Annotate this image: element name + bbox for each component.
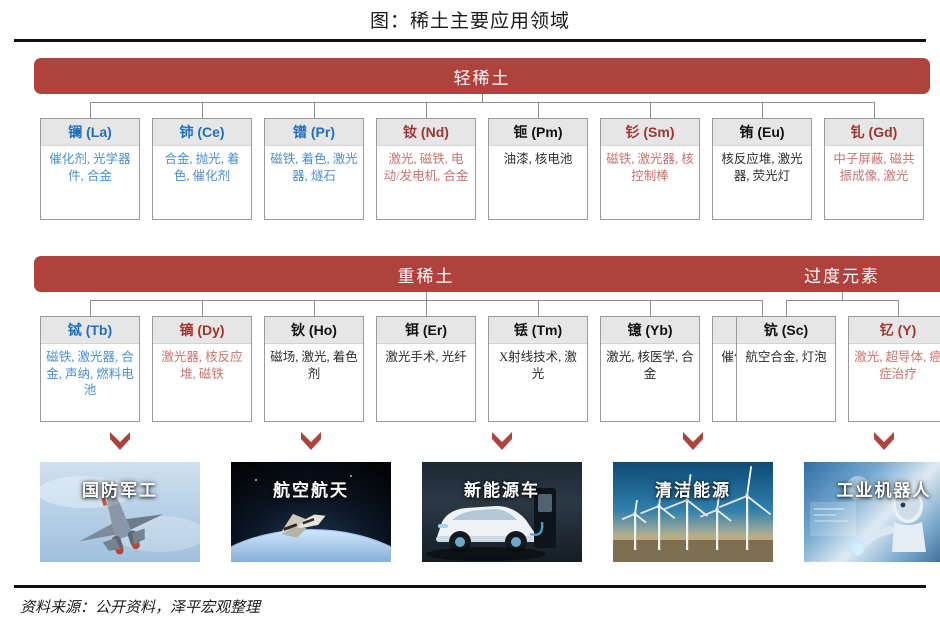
- heavy-drop-3: [426, 300, 427, 316]
- heavy-drop-0: [90, 300, 91, 316]
- light-drop-6: [762, 102, 763, 118]
- application-tile-robot[interactable]: 工业机器人: [804, 462, 940, 562]
- element-card-Eu[interactable]: 铕 (Eu)核反应堆, 激光器, 荧光灯: [712, 118, 812, 220]
- element-card-Yb[interactable]: 镱 (Yb)激光, 核医学, 合金: [600, 316, 700, 422]
- element-card-Pm[interactable]: 钷 (Pm)油漆, 核电池: [488, 118, 588, 220]
- divider-bottom: [14, 585, 926, 588]
- element-symbol: 镱 (Yb): [601, 317, 699, 344]
- element-card-Dy[interactable]: 镝 (Dy)激光器, 核反应堆, 磁铁: [152, 316, 252, 422]
- source-note: 资料来源：公开资料，泽平宏观整理: [20, 596, 260, 617]
- light-drop-5: [650, 102, 651, 118]
- chevron-down-icon: [681, 431, 705, 451]
- heavy-drop-5: [650, 300, 651, 316]
- element-uses: 磁铁, 着色, 激光器, 燧石: [265, 146, 363, 186]
- light-drop-3: [426, 102, 427, 118]
- chevron-down-icon: [490, 431, 514, 451]
- element-symbol: 铽 (Tb): [41, 317, 139, 344]
- element-symbol: 钪 (Sc): [737, 317, 835, 344]
- application-label: 航空航天: [231, 476, 391, 501]
- heavy-drop-4: [538, 300, 539, 316]
- application-tile-aerospace[interactable]: 航空航天: [231, 462, 391, 562]
- element-card-Sm[interactable]: 钐 (Sm)磁铁, 激光器, 核控制棒: [600, 118, 700, 220]
- element-uses: 磁场, 激光, 着色剂: [265, 344, 363, 384]
- light-bus: [90, 102, 874, 103]
- element-uses: 磁铁, 激光器, 核控制棒: [601, 146, 699, 186]
- element-symbol: 钆 (Gd): [825, 119, 923, 146]
- element-uses: 激光手术, 光纤: [377, 344, 475, 368]
- application-label: 国防军工: [40, 476, 200, 501]
- element-card-Er[interactable]: 铒 (Er)激光手术, 光纤: [376, 316, 476, 422]
- element-symbol: 钐 (Sm): [601, 119, 699, 146]
- element-uses: X射线技术, 激光: [489, 344, 587, 384]
- element-symbol: 钇 (Y): [849, 317, 940, 344]
- chevron-down-icon: [108, 431, 132, 451]
- group-bar-heavy-rare-earth: 重稀土: [34, 256, 818, 292]
- group-bar-transition-elements: 过度元素: [730, 256, 940, 292]
- heavy-drop-1: [202, 300, 203, 316]
- heavy-drop-2: [314, 300, 315, 316]
- group-bar-label: 轻稀土: [454, 64, 511, 89]
- element-symbol: 铕 (Eu): [713, 119, 811, 146]
- heavy-trunk: [426, 292, 427, 300]
- application-label: 清洁能源: [613, 476, 773, 501]
- element-card-Y[interactable]: 钇 (Y)激光, 超导体, 癌症治疗: [848, 316, 940, 422]
- trans-trunk: [842, 292, 843, 300]
- element-card-Tm[interactable]: 铥 (Tm)X射线技术, 激光: [488, 316, 588, 422]
- element-card-Nd[interactable]: 钕 (Nd)激光, 磁铁, 电动/发电机, 合金: [376, 118, 476, 220]
- element-card-Gd[interactable]: 钆 (Gd)中子屏蔽, 磁共振成像, 激光: [824, 118, 924, 220]
- application-tile-clean[interactable]: 清洁能源: [613, 462, 773, 562]
- light-drop-4: [538, 102, 539, 118]
- element-uses: 激光, 超导体, 癌症治疗: [849, 344, 940, 384]
- chevron-down-icon: [872, 431, 896, 451]
- element-symbol: 镧 (La): [41, 119, 139, 146]
- element-symbol: 铥 (Tm): [489, 317, 587, 344]
- light-drop-7: [874, 102, 875, 118]
- application-label: 工业机器人: [804, 476, 940, 501]
- element-card-La[interactable]: 镧 (La)催化剂, 光学器件, 合金: [40, 118, 140, 220]
- element-uses: 催化剂, 光学器件, 合金: [41, 146, 139, 186]
- light-drop-0: [90, 102, 91, 118]
- figure-root: 图：稀土主要应用领域 轻稀土镧 (La)催化剂, 光学器件, 合金铈 (Ce)合…: [0, 0, 940, 628]
- group-bar-label: 过度元素: [804, 262, 880, 287]
- element-uses: 核反应堆, 激光器, 荧光灯: [713, 146, 811, 186]
- element-uses: 合金, 抛光, 着色, 催化剂: [153, 146, 251, 186]
- element-symbol: 铒 (Er): [377, 317, 475, 344]
- application-tile-defense[interactable]: 国防军工: [40, 462, 200, 562]
- element-symbol: 铈 (Ce): [153, 119, 251, 146]
- group-bar-label: 重稀土: [398, 262, 455, 287]
- element-symbol: 镝 (Dy): [153, 317, 251, 344]
- element-uses: 中子屏蔽, 磁共振成像, 激光: [825, 146, 923, 186]
- trans-bus: [786, 300, 898, 301]
- element-card-Sc[interactable]: 钪 (Sc)航空合金, 灯泡: [736, 316, 836, 422]
- element-uses: 激光器, 核反应堆, 磁铁: [153, 344, 251, 384]
- element-uses: 油漆, 核电池: [489, 146, 587, 170]
- element-uses: 激光, 核医学, 合金: [601, 344, 699, 384]
- element-symbol: 钕 (Nd): [377, 119, 475, 146]
- element-uses: 航空合金, 灯泡: [737, 344, 835, 368]
- application-tile-ev[interactable]: 新能源车: [422, 462, 582, 562]
- trans-drop-1: [898, 300, 899, 316]
- application-label: 新能源车: [422, 476, 582, 501]
- element-card-Tb[interactable]: 铽 (Tb)磁铁, 激光器, 合金, 声纳, 燃料电池: [40, 316, 140, 422]
- page-title: 图：稀土主要应用领域: [0, 6, 940, 33]
- element-card-Pr[interactable]: 镨 (Pr)磁铁, 着色, 激光器, 燧石: [264, 118, 364, 220]
- element-symbol: 镨 (Pr): [265, 119, 363, 146]
- element-card-Ce[interactable]: 铈 (Ce)合金, 抛光, 着色, 催化剂: [152, 118, 252, 220]
- trans-drop-0: [786, 300, 787, 316]
- light-trunk: [482, 94, 483, 102]
- element-card-Ho[interactable]: 钬 (Ho)磁场, 激光, 着色剂: [264, 316, 364, 422]
- element-uses: 磁铁, 激光器, 合金, 声纳, 燃料电池: [41, 344, 139, 401]
- element-symbol: 钷 (Pm): [489, 119, 587, 146]
- light-drop-2: [314, 102, 315, 118]
- divider-top: [14, 39, 926, 42]
- chevron-down-icon: [299, 431, 323, 451]
- heavy-drop-6: [762, 300, 763, 316]
- element-uses: 激光, 磁铁, 电动/发电机, 合金: [377, 146, 475, 186]
- group-bar-light-rare-earth: 轻稀土: [34, 58, 930, 94]
- element-symbol: 钬 (Ho): [265, 317, 363, 344]
- light-drop-1: [202, 102, 203, 118]
